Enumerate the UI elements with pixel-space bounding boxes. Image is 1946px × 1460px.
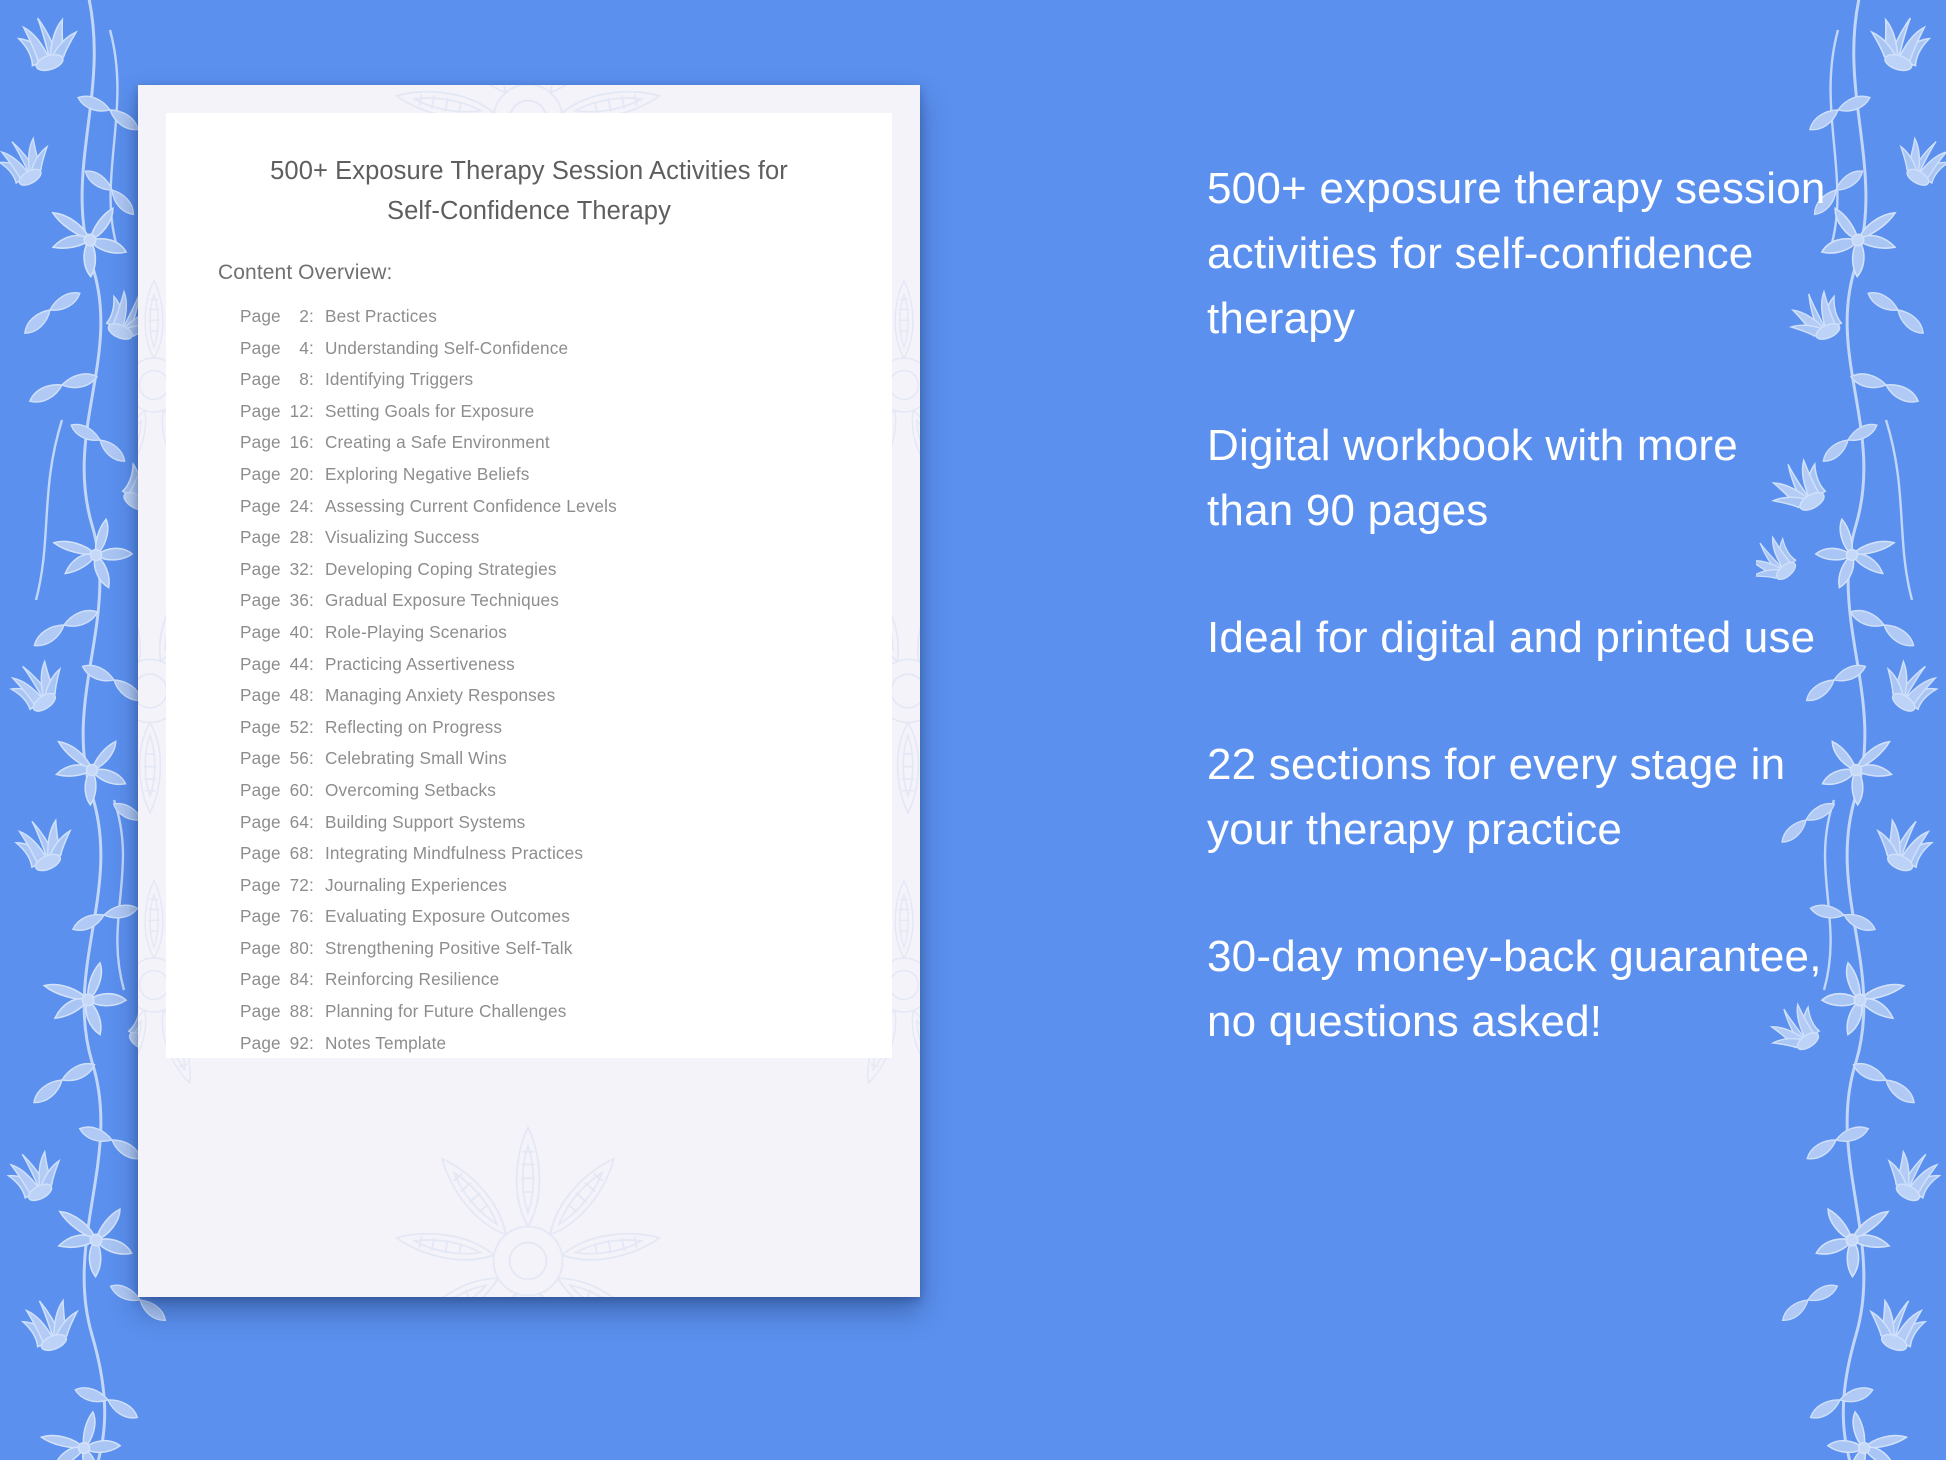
toc-section-title: Building Support Systems	[325, 812, 525, 833]
toc-page-word: Page	[240, 780, 282, 801]
toc-section-title: Managing Anxiety Responses	[325, 685, 555, 706]
toc-row[interactable]: Page60:Overcoming Setbacks	[240, 780, 870, 812]
toc-page-word: Page	[240, 717, 282, 738]
toc-row[interactable]: Page56:Celebrating Small Wins	[240, 748, 870, 780]
toc-page-number: 12	[282, 401, 309, 422]
toc-page-number: 84	[282, 969, 309, 990]
toc-colon: :	[309, 812, 325, 833]
toc-page-number: 8	[282, 369, 309, 390]
marketing-bullet: 22 sections for every stage in your ther…	[1207, 732, 1827, 862]
toc-section-title: Planning for Future Challenges	[325, 1001, 566, 1022]
toc-colon: :	[309, 464, 325, 485]
marketing-bullet: 30-day money-back guarantee, no question…	[1207, 924, 1827, 1054]
toc-section-title: Evaluating Exposure Outcomes	[325, 906, 570, 927]
toc-row[interactable]: Page4:Understanding Self-Confidence	[240, 338, 870, 370]
toc-page-number: 4	[282, 338, 309, 359]
toc-row[interactable]: Page8:Identifying Triggers	[240, 369, 870, 401]
toc-page-number: 88	[282, 1001, 309, 1022]
toc-colon: :	[309, 527, 325, 548]
toc-row[interactable]: Page88:Planning for Future Challenges	[240, 1001, 870, 1033]
toc-row[interactable]: Page32:Developing Coping Strategies	[240, 559, 870, 591]
toc-page-number: 16	[282, 432, 309, 453]
toc-page-number: 72	[282, 875, 309, 896]
document-title-line-1: 500+ Exposure Therapy Session Activities…	[202, 151, 856, 191]
toc-section-title: Developing Coping Strategies	[325, 559, 557, 580]
toc-row[interactable]: Page20:Exploring Negative Beliefs	[240, 464, 870, 496]
toc-section-title: Exploring Negative Beliefs	[325, 464, 530, 485]
toc-row[interactable]: Page68:Integrating Mindfulness Practices	[240, 843, 870, 875]
toc-colon: :	[309, 369, 325, 390]
toc-colon: :	[309, 969, 325, 990]
toc-section-title: Strengthening Positive Self-Talk	[325, 938, 572, 959]
toc-section-title: Role-Playing Scenarios	[325, 622, 507, 643]
toc-colon: :	[309, 843, 325, 864]
toc-row[interactable]: Page2:Best Practices	[240, 306, 870, 338]
toc-row[interactable]: Page44:Practicing Assertiveness	[240, 654, 870, 686]
toc-row[interactable]: Page12:Setting Goals for Exposure	[240, 401, 870, 433]
toc-row[interactable]: Page64:Building Support Systems	[240, 812, 870, 844]
toc-page-word: Page	[240, 1033, 282, 1054]
toc-section-title: Practicing Assertiveness	[325, 654, 515, 675]
toc-page-word: Page	[240, 906, 282, 927]
toc-page-word: Page	[240, 812, 282, 833]
toc-section-title: Integrating Mindfulness Practices	[325, 843, 583, 864]
toc-page-word: Page	[240, 590, 282, 611]
marketing-bullet: Ideal for digital and printed use	[1207, 605, 1827, 670]
toc-section-title: Visualizing Success	[325, 527, 479, 548]
toc-colon: :	[309, 717, 325, 738]
toc-colon: :	[309, 1033, 325, 1054]
toc-colon: :	[309, 748, 325, 769]
toc-colon: :	[309, 875, 325, 896]
toc-page-number: 24	[282, 496, 309, 517]
toc-page-word: Page	[240, 527, 282, 548]
toc-section-title: Best Practices	[325, 306, 437, 327]
toc-colon: :	[309, 938, 325, 959]
toc-page-word: Page	[240, 938, 282, 959]
toc-section-title: Understanding Self-Confidence	[325, 338, 568, 359]
toc-page-number: 36	[282, 590, 309, 611]
document-title: 500+ Exposure Therapy Session Activities…	[202, 151, 856, 231]
toc-section-title: Celebrating Small Wins	[325, 748, 507, 769]
toc-page-number: 44	[282, 654, 309, 675]
toc-page-number: 68	[282, 843, 309, 864]
toc-page-word: Page	[240, 1001, 282, 1022]
toc-colon: :	[309, 559, 325, 580]
toc-section-title: Journaling Experiences	[325, 875, 507, 896]
toc-page-word: Page	[240, 464, 282, 485]
toc-section-title: Notes Template	[325, 1033, 446, 1054]
toc-colon: :	[309, 496, 325, 517]
toc-page-number: 56	[282, 748, 309, 769]
marketing-copy-column: 500+ exposure therapy session activities…	[1207, 156, 1827, 1054]
toc-section-title: Assessing Current Confidence Levels	[325, 496, 617, 517]
toc-page-number: 40	[282, 622, 309, 643]
document-title-line-2: Self-Confidence Therapy	[202, 191, 856, 231]
toc-section-title: Reinforcing Resilience	[325, 969, 499, 990]
document-preview-card[interactable]: 500+ Exposure Therapy Session Activities…	[138, 85, 920, 1297]
toc-colon: :	[309, 338, 325, 359]
marketing-bullet: Digital workbook with more than 90 pages	[1207, 413, 1827, 543]
toc-page-word: Page	[240, 496, 282, 517]
toc-page-number: 60	[282, 780, 309, 801]
toc-page-number: 52	[282, 717, 309, 738]
toc-row[interactable]: Page16:Creating a Safe Environment	[240, 432, 870, 464]
toc-row[interactable]: Page72:Journaling Experiences	[240, 875, 870, 907]
toc-row[interactable]: Page36:Gradual Exposure Techniques	[240, 590, 870, 622]
toc-row[interactable]: Page40:Role-Playing Scenarios	[240, 622, 870, 654]
toc-row[interactable]: Page76:Evaluating Exposure Outcomes	[240, 906, 870, 938]
toc-row[interactable]: Page52:Reflecting on Progress	[240, 717, 870, 749]
toc-page-word: Page	[240, 748, 282, 769]
toc-page-word: Page	[240, 843, 282, 864]
content-overview-label: Content Overview:	[218, 261, 392, 285]
toc-row[interactable]: Page80:Strengthening Positive Self-Talk	[240, 938, 870, 970]
toc-page-number: 80	[282, 938, 309, 959]
toc-colon: :	[309, 401, 325, 422]
toc-section-title: Reflecting on Progress	[325, 717, 502, 738]
toc-colon: :	[309, 780, 325, 801]
table-of-contents-list: Page2:Best PracticesPage4:Understanding …	[240, 306, 870, 1058]
product-listing-page: 500+ Exposure Therapy Session Activities…	[0, 0, 1946, 1460]
toc-page-word: Page	[240, 969, 282, 990]
toc-page-word: Page	[240, 401, 282, 422]
toc-colon: :	[309, 1001, 325, 1022]
toc-page-word: Page	[240, 338, 282, 359]
toc-section-title: Overcoming Setbacks	[325, 780, 496, 801]
toc-page-number: 28	[282, 527, 309, 548]
toc-page-number: 48	[282, 685, 309, 706]
toc-page-number: 64	[282, 812, 309, 833]
toc-page-word: Page	[240, 875, 282, 896]
toc-page-word: Page	[240, 369, 282, 390]
toc-page-word: Page	[240, 559, 282, 580]
toc-colon: :	[309, 306, 325, 327]
toc-page-word: Page	[240, 306, 282, 327]
toc-section-title: Gradual Exposure Techniques	[325, 590, 559, 611]
toc-row[interactable]: Page84:Reinforcing Resilience	[240, 969, 870, 1001]
toc-colon: :	[309, 685, 325, 706]
toc-row[interactable]: Page92:Notes Template	[240, 1033, 870, 1058]
toc-row[interactable]: Page24:Assessing Current Confidence Leve…	[240, 496, 870, 528]
toc-colon: :	[309, 590, 325, 611]
toc-section-title: Creating a Safe Environment	[325, 432, 550, 453]
toc-page-number: 76	[282, 906, 309, 927]
marketing-bullet: 500+ exposure therapy session activities…	[1207, 156, 1827, 351]
toc-row[interactable]: Page48:Managing Anxiety Responses	[240, 685, 870, 717]
toc-section-title: Setting Goals for Exposure	[325, 401, 534, 422]
toc-page-word: Page	[240, 654, 282, 675]
toc-page-number: 2	[282, 306, 309, 327]
toc-page-word: Page	[240, 432, 282, 453]
toc-colon: :	[309, 622, 325, 643]
toc-page-number: 20	[282, 464, 309, 485]
toc-page-number: 92	[282, 1033, 309, 1054]
toc-page-number: 32	[282, 559, 309, 580]
toc-row[interactable]: Page28:Visualizing Success	[240, 527, 870, 559]
toc-colon: :	[309, 432, 325, 453]
toc-page-word: Page	[240, 622, 282, 643]
document-inner-page: 500+ Exposure Therapy Session Activities…	[166, 113, 892, 1058]
toc-colon: :	[309, 654, 325, 675]
toc-section-title: Identifying Triggers	[325, 369, 473, 390]
toc-colon: :	[309, 906, 325, 927]
toc-page-word: Page	[240, 685, 282, 706]
